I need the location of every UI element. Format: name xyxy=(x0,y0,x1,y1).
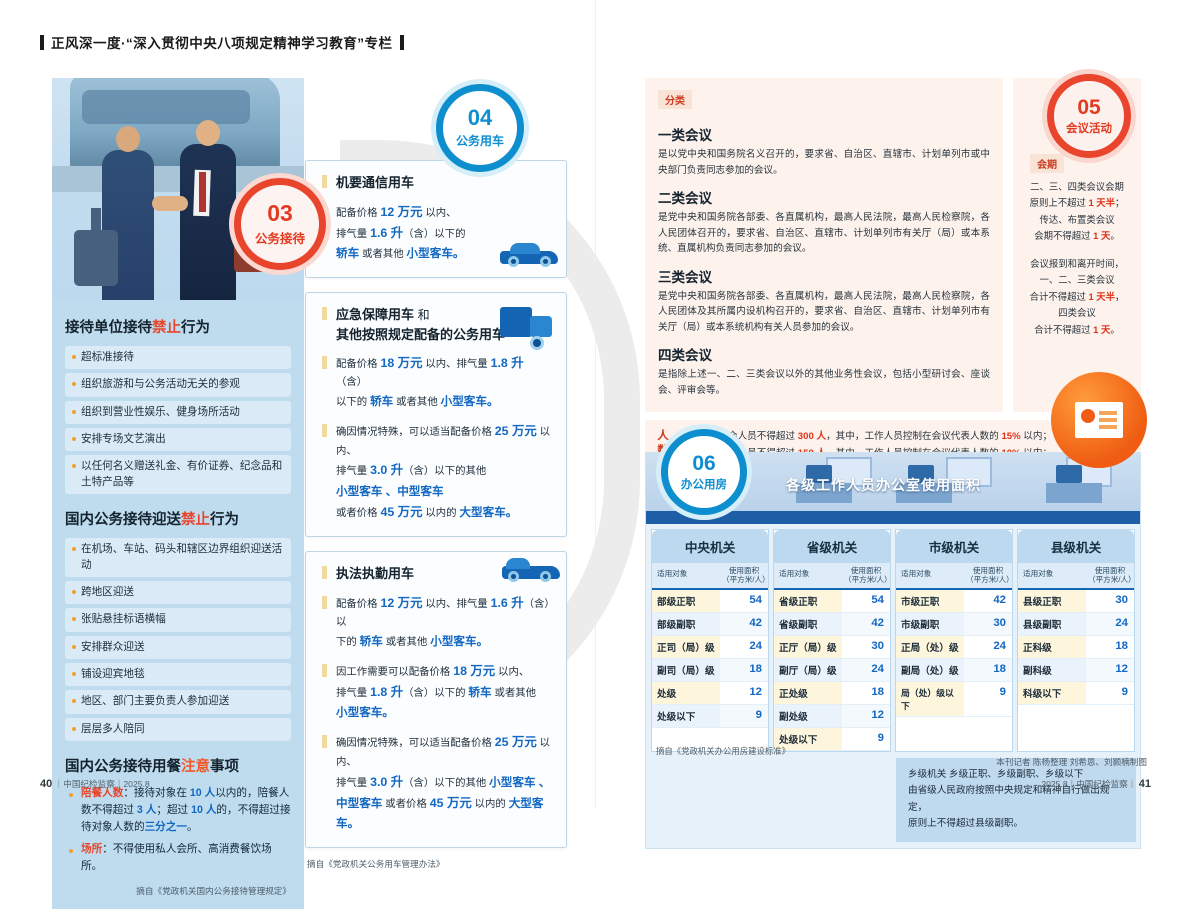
duration-line: 二、三、四类会议会期 原则上不超过 1 天半； 传达、布置类会议 会期不得超过 … xyxy=(1022,179,1132,245)
township-note: 乡级机关 乡级正职、乡级副职、乡级以下由省级人民政府按照中央规定和精神自行做出规… xyxy=(896,758,1136,842)
list-item: 组织旅游和与公务活动无关的参观 xyxy=(65,373,291,396)
list-item: 安排群众迎送 xyxy=(65,636,291,659)
section-06-number: 06 xyxy=(692,453,715,474)
table-subhead: 适用对象 使用面积 （平方米/人） xyxy=(774,563,890,590)
col-head-object: 适用对象 xyxy=(652,563,720,588)
footer-left-text: 中国纪检监察｜2025.8 xyxy=(63,779,149,789)
office-banner-title: 各级工作人员办公室使用面积 xyxy=(786,475,981,495)
meal-companion-note: 陪餐人数：接待对象在 10 人以内的，陪餐人数不得超过 3 人；超过 10 人的… xyxy=(65,785,291,836)
table-row: 副科级12 xyxy=(1018,659,1134,682)
truck-icon xyxy=(500,307,552,345)
table-central-agency: 中央机关 适用对象 使用面积 （平方米/人） 部级正职54 部级副职42 正司（… xyxy=(651,529,769,752)
office-source-note: 摘自《党政机关办公用房建设标准》 xyxy=(650,745,790,764)
block1-list: 超标准接待 组织旅游和与公务活动无关的参观 组织到营业性娱乐、健身场所活动 安排… xyxy=(65,346,291,494)
table-subhead: 适用对象 使用面积 （平方米/人） xyxy=(652,563,768,590)
tie-illustration xyxy=(199,172,206,212)
col-head-area: 使用面积 （平方米/人） xyxy=(1086,563,1134,588)
handshake-illustration xyxy=(152,196,188,211)
list-item: 在机场、车站、码头和辖区边界组织迎送活动 xyxy=(65,538,291,577)
block3-title: 国内公务接待用餐注意事项 xyxy=(65,755,291,776)
table-title: 县级机关 xyxy=(1018,530,1134,563)
table-row: 省级正职54 xyxy=(774,590,890,613)
table-row: 部级正职54 xyxy=(652,590,768,613)
section-04-badge: 04 公务用车 xyxy=(436,84,524,172)
section-03-number: 03 xyxy=(267,202,293,225)
reception-rules-panel: 接待单位接待禁止行为 超标准接待 组织旅游和与公务活动无关的参观 组织到营业性娱… xyxy=(52,300,304,909)
classification-tag: 分类 xyxy=(658,90,692,109)
list-item: 地区、部门主要负责人参加迎送 xyxy=(65,690,291,713)
table-row: 处级12 xyxy=(652,682,768,705)
table-row: 正处级18 xyxy=(774,682,890,705)
card-item: 配备价格 12 万元 以内、排气量 1.6 升（含）以 下的 轿车 或者其他 小… xyxy=(320,593,552,652)
header-bar-right-icon xyxy=(400,35,404,50)
table-row: 省级副职42 xyxy=(774,613,890,636)
table-row: 正科级18 xyxy=(1018,636,1134,659)
col-head-area: 使用面积 （平方米/人） xyxy=(720,563,768,588)
col-head-object: 适用对象 xyxy=(896,563,964,588)
table-county-agency: 县级机关 适用对象 使用面积 （平方米/人） 县级正职30 县级副职24 正科级… xyxy=(1017,529,1135,752)
meeting-type-desc: 是以党中央和国务院名义召开的，要求省、自治区、直辖市、计划单列市或中央部门负责同… xyxy=(658,147,990,178)
block2-title: 国内公务接待迎送禁止行为 xyxy=(65,508,291,529)
table-row: 副处级12 xyxy=(774,705,890,728)
office-area-tables: 中央机关 适用对象 使用面积 （平方米/人） 部级正职54 部级副职42 正司（… xyxy=(646,524,1140,758)
card-item: 因工作需要可以配备价格 18 万元 以内、 排气量 1.8 升（含）以下的 轿车… xyxy=(320,661,552,724)
section-05-number: 05 xyxy=(1077,97,1100,118)
section-04-label: 公务用车 xyxy=(456,132,504,149)
meeting-type-name: 一类会议 xyxy=(658,124,990,144)
vehicle-card-confidential: 机要通信用车 配备价格 12 万元 以内、排气量 1.6 升（含）以下的 轿车 … xyxy=(305,160,567,278)
col-head-area: 使用面积 （平方米/人） xyxy=(842,563,890,588)
table-row: 科级以下9 xyxy=(1018,682,1134,705)
meeting-type-desc: 是党中央和国务院各部委、各直属机构，最高人民法院，最高人民检察院，各人民团体召开… xyxy=(658,210,990,257)
table-row: 处级以下9 xyxy=(774,728,890,751)
meeting-type-name: 三类会议 xyxy=(658,266,990,286)
duration-tag: 会期 xyxy=(1030,154,1064,173)
block1-title: 接待单位接待禁止行为 xyxy=(65,316,291,337)
card-item: 配备价格 18 万元 以内、排气量 1.8 升（含） 以下的 轿车 或者其他 小… xyxy=(320,353,552,412)
table-row: 正司（局）级24 xyxy=(652,636,768,659)
sedan-icon xyxy=(500,243,558,267)
left-source-note: 摘自《党政机关国内公务接待管理规定》 xyxy=(65,885,291,897)
table-municipal-agency: 市级机关 适用对象 使用面积 （平方米/人） 市级正职42 市级副职30 正局（… xyxy=(895,529,1013,752)
section-04-number: 04 xyxy=(468,107,492,129)
luggage-icon xyxy=(74,230,118,286)
footer-right: 2025.8｜中国纪检监察｜ 41 xyxy=(1041,778,1151,790)
presentation-icon xyxy=(1051,372,1147,468)
table-row: 副厅（局）级24 xyxy=(774,659,890,682)
meeting-type-name: 二类会议 xyxy=(658,187,990,207)
venue-note: 场所：不得使用私人会所、高消费餐饮场所。 xyxy=(65,841,291,875)
footer-right-text: 2025.8｜中国纪检监察｜ xyxy=(1041,779,1136,789)
list-item: 组织到营业性娱乐、健身场所活动 xyxy=(65,401,291,424)
pickup-icon xyxy=(502,558,560,582)
vehicle-card-enforcement: 执法执勤用车 配备价格 12 万元 以内、排气量 1.6 升（含）以 下的 轿车… xyxy=(305,551,567,848)
col-head-object: 适用对象 xyxy=(1018,563,1086,588)
list-item: 超标准接待 xyxy=(65,346,291,369)
page-number-right: 41 xyxy=(1139,778,1151,790)
table-row: 正局（处）级24 xyxy=(896,636,1012,659)
col-head-object: 适用对象 xyxy=(774,563,842,588)
section-06-label: 办公用房 xyxy=(681,476,727,492)
table-title: 市级机关 xyxy=(896,530,1012,563)
meeting-type-desc: 是党中央和国务院各部委、各直属机构，最高人民法院，最高人民检察院，各人民团体及其… xyxy=(658,289,990,336)
table-row: 部级副职42 xyxy=(652,613,768,636)
list-item: 铺设迎宾地毯 xyxy=(65,663,291,686)
header-bar-left-icon xyxy=(40,35,44,50)
table-row: 正厅（局）级30 xyxy=(774,636,890,659)
table-row: 市级正职42 xyxy=(896,590,1012,613)
infographic-page: 正风深一度·“深入贯彻中央八项规定精神学习教育”专栏 03 公务接待 接待单位接… xyxy=(0,0,1191,808)
table-row: 市级副职30 xyxy=(896,613,1012,636)
duration-line2: 会议报到和离开时间， 一、二、三类会议 合计不得超过 1 天半， 四类会议 合计… xyxy=(1022,256,1132,338)
table-provincial-agency: 省级机关 适用对象 使用面积 （平方米/人） 省级正职54 省级副职42 正厅（… xyxy=(773,529,891,752)
table-row: 县级副职24 xyxy=(1018,613,1134,636)
table-title: 中央机关 xyxy=(652,530,768,563)
page-number-left: 40 xyxy=(40,778,52,790)
list-item: 跨地区迎送 xyxy=(65,581,291,604)
footer-left: 40 ｜中国纪检监察｜2025.8 xyxy=(40,778,150,790)
col-head-area: 使用面积 （平方米/人） xyxy=(964,563,1012,588)
office-dark-bar xyxy=(646,511,1140,524)
table-row: 处级以下9 xyxy=(652,705,768,728)
mid-source-note: 摘自《党政机关公务用车管理办法》 xyxy=(305,858,567,870)
section-03-label: 公务接待 xyxy=(255,228,305,247)
section-03-badge: 03 公务接待 xyxy=(234,178,326,270)
table-row: 副局（处）级18 xyxy=(896,659,1012,682)
van-illustration xyxy=(70,78,280,170)
section-05-label: 会议活动 xyxy=(1066,120,1112,136)
meeting-type-name: 四类会议 xyxy=(658,344,990,364)
card-item: 确因情况特殊，可以适当配备价格 25 万元 以内、 排气量 3.0 升（含）以下… xyxy=(320,421,552,523)
section-04-official-vehicles: 机要通信用车 配备价格 12 万元 以内、排气量 1.6 升（含）以下的 轿车 … xyxy=(305,160,567,870)
page-title: 正风深一度·“深入贯彻中央八项规定精神学习教育”专栏 xyxy=(51,32,393,52)
card-title: 机要通信用车 xyxy=(320,173,552,193)
page-header: 正风深一度·“深入贯彻中央八项规定精神学习教育”专栏 xyxy=(40,32,404,52)
section-06-badge: 06 办公用房 xyxy=(661,429,747,515)
block2-list: 在机场、车站、码头和辖区边界组织迎送活动 跨地区迎送 张贴悬挂标语横幅 安排群众… xyxy=(65,538,291,741)
credit-line: 本刊记者 陈杨整理 刘希恩、刘颢楠制图 xyxy=(996,756,1147,768)
list-item: 安排专场文艺演出 xyxy=(65,428,291,451)
meeting-classification-box: 分类 一类会议 是以党中央和国务院名义召开的，要求省、自治区、直辖市、计划单列市… xyxy=(645,78,1003,412)
list-item: 层层多人陪同 xyxy=(65,718,291,741)
person-right-illustration xyxy=(180,144,236,300)
vehicle-card-emergency: 应急保障用车 和 其他按照规定配备的公务用车 配备价格 18 万元 以内、排气量… xyxy=(305,292,567,537)
table-subhead: 适用对象 使用面积 （平方米/人） xyxy=(1018,563,1134,590)
section-05-badge: 05 会议活动 xyxy=(1047,74,1131,158)
table-row: 局（处）级以下9 xyxy=(896,682,1012,717)
table-row: 县级正职30 xyxy=(1018,590,1134,613)
card-item: 确因情况特殊，可以适当配备价格 25 万元 以内、 排气量 3.0 升（含）以下… xyxy=(320,732,552,834)
meeting-type-desc: 是指除上述一、二、三类会议以外的其他业务性会议，包括小型研讨会、座谈会、评审会等… xyxy=(658,367,990,398)
list-item: 张贴悬挂标语横幅 xyxy=(65,608,291,631)
table-row: 副司（局）级18 xyxy=(652,659,768,682)
table-title: 省级机关 xyxy=(774,530,890,563)
list-item: 以任何名义赠送礼金、有价证券、纪念品和土特产品等 xyxy=(65,455,291,494)
table-subhead: 适用对象 使用面积 （平方米/人） xyxy=(896,563,1012,590)
